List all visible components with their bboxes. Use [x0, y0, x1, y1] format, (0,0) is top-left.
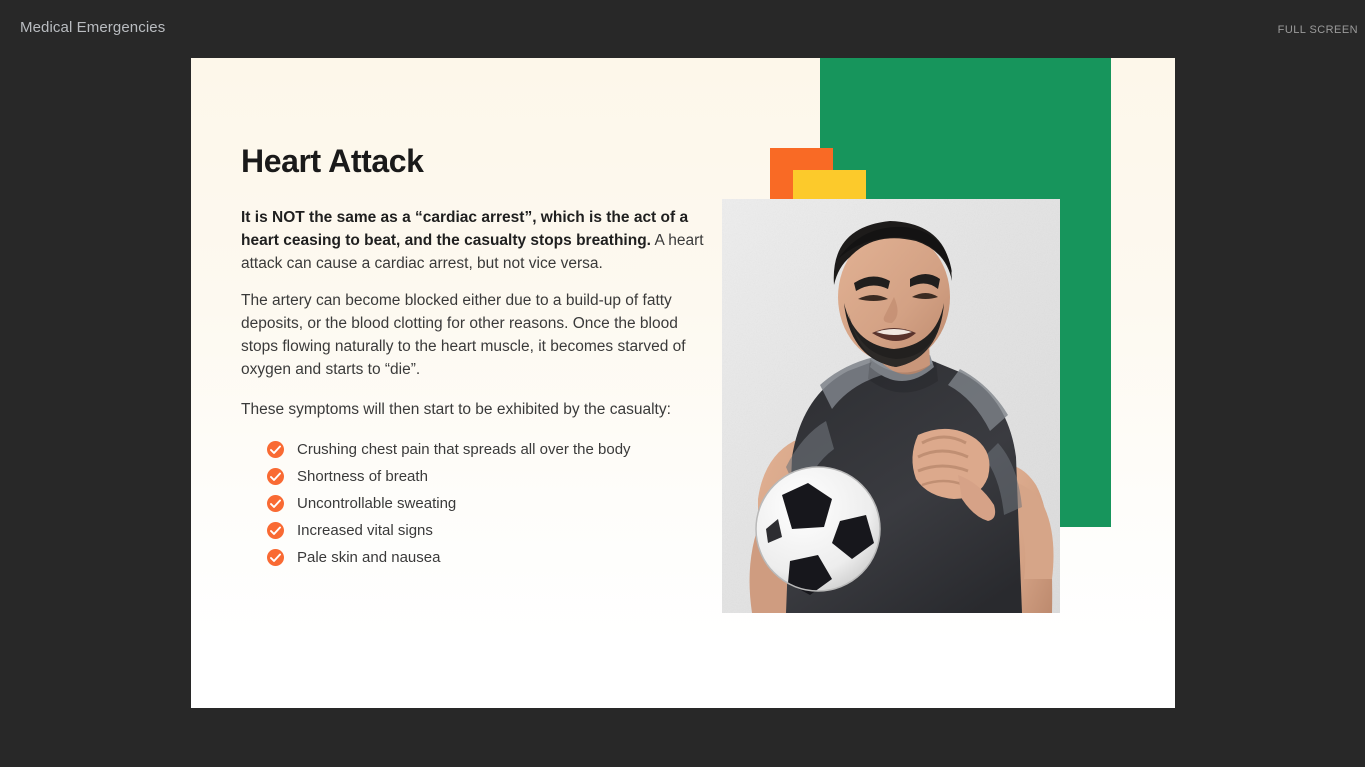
course-title: Medical Emergencies — [20, 19, 165, 36]
list-item-label: Uncontrollable sweating — [297, 495, 456, 512]
course-player: Medical Emergencies FULL SCREEN — [0, 0, 1365, 767]
paragraph-symptoms-intro: These symptoms will then start to be exh… — [241, 399, 711, 422]
check-circle-icon — [267, 495, 284, 512]
list-item: Increased vital signs — [267, 519, 711, 542]
slide-canvas: Heart Attack It is NOT the same as a “ca… — [191, 58, 1175, 708]
list-item: Uncontrollable sweating — [267, 492, 711, 515]
list-item-label: Crushing chest pain that spreads all ove… — [297, 441, 631, 458]
list-item-label: Increased vital signs — [297, 522, 433, 539]
check-circle-icon — [267, 441, 284, 458]
symptoms-list: Crushing chest pain that spreads all ove… — [241, 438, 711, 569]
list-item: Crushing chest pain that spreads all ove… — [267, 438, 711, 461]
check-circle-icon — [267, 549, 284, 566]
heart-attack-photo — [722, 199, 1060, 613]
list-item-label: Pale skin and nausea — [297, 549, 440, 566]
paragraph-artery: The artery can become blocked either due… — [241, 290, 711, 381]
check-circle-icon — [267, 522, 284, 539]
fullscreen-button[interactable]: FULL SCREEN — [1278, 24, 1358, 36]
player-top-bar: Medical Emergencies FULL SCREEN — [0, 0, 1365, 58]
player-control-bar — [0, 708, 1365, 767]
paragraph-lead: It is NOT the same as a “cardiac arrest”… — [241, 207, 711, 275]
check-circle-icon — [267, 468, 284, 485]
list-item-label: Shortness of breath — [297, 468, 428, 485]
list-item: Shortness of breath — [267, 465, 711, 488]
slide-text-column: Heart Attack It is NOT the same as a “ca… — [241, 143, 711, 573]
list-item: Pale skin and nausea — [267, 546, 711, 569]
paragraph-lead-bold: It is NOT the same as a “cardiac arrest”… — [241, 209, 688, 249]
page-title: Heart Attack — [241, 143, 711, 180]
